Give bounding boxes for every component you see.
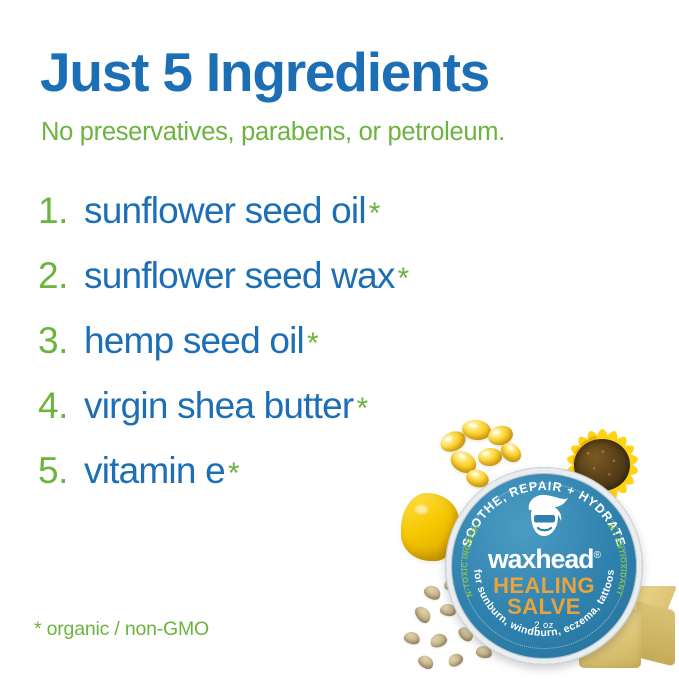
list-item-label: hemp seed oil (84, 320, 304, 362)
list-item-number: 5. (38, 450, 84, 492)
organic-asterisk: * (356, 394, 368, 424)
page-subtitle: No preservatives, parabens, or petroleum… (41, 118, 505, 147)
product-tin[interactable]: SOOTHE, REPAIR + HYDRATE for sunburn, wi… (446, 468, 642, 664)
tin-metal-rim (446, 468, 642, 664)
vitamin-capsule-icon (477, 447, 502, 467)
page-title: Just 5 Ingredients (40, 44, 489, 102)
list-item-number: 4. (38, 385, 84, 427)
organic-asterisk: * (369, 199, 381, 229)
organic-asterisk: * (228, 459, 240, 489)
list-item: 3. hemp seed oil * (38, 320, 598, 385)
list-item: 1. sunflower seed oil * (38, 190, 598, 255)
hemp-seed-icon (422, 583, 443, 602)
hemp-seed-icon (416, 653, 436, 672)
list-item-label: virgin shea butter (84, 385, 353, 427)
organic-asterisk: * (398, 264, 410, 294)
list-item-number: 3. (38, 320, 84, 362)
footnote-organic-nongmo: * organic / non-GMO (34, 618, 209, 641)
list-item-number: 2. (38, 255, 84, 297)
list-item-number: 1. (38, 190, 84, 232)
list-item-label: sunflower seed wax (84, 255, 395, 297)
hemp-seed-icon (412, 603, 433, 625)
hemp-seed-icon (428, 631, 448, 649)
list-item-label: vitamin e (84, 450, 225, 492)
list-item-label: sunflower seed oil (84, 190, 366, 232)
list-item: 2. sunflower seed wax * (38, 255, 598, 320)
hemp-seed-icon (403, 630, 422, 646)
wax-block-side (637, 601, 675, 666)
organic-asterisk: * (307, 329, 319, 359)
product-photo-cluster: SOOTHE, REPAIR + HYDRATE for sunburn, wi… (396, 390, 679, 679)
product-infographic: Just 5 Ingredients No preservatives, par… (0, 0, 679, 679)
